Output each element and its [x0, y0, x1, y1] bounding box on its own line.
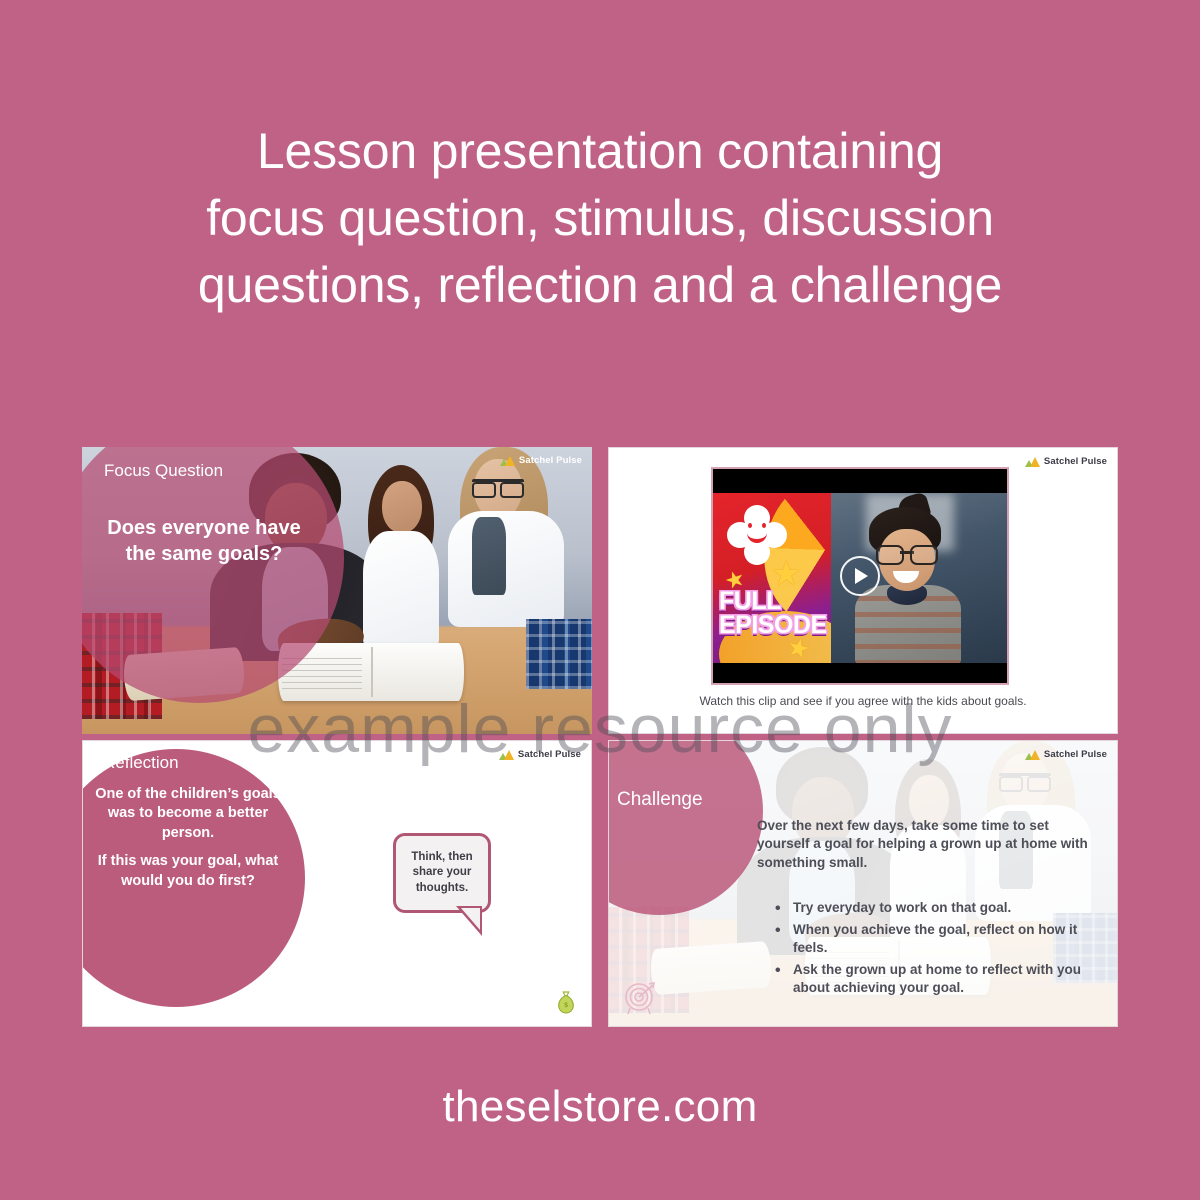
challenge-intro-text: Over the next few days, take some time t…	[757, 817, 1101, 872]
headline-line-2: focus question, stimulus, discussion	[60, 185, 1140, 252]
photo-student-face	[382, 481, 422, 533]
speech-bubble-tail	[456, 906, 482, 936]
page-title: Lesson presentation containing focus que…	[60, 118, 1140, 319]
mountain-icon	[499, 749, 514, 760]
reflection-text: One of the children’s goals was to becom…	[95, 785, 281, 891]
target-icon	[621, 978, 661, 1016]
slide-reflection[interactable]: Reflection One of the children’s goals w…	[82, 740, 592, 1027]
photo-plaid-skirt-right	[526, 619, 592, 689]
focus-question-text: Does everyone have the same goals?	[100, 515, 308, 567]
photo-student2-glasses	[472, 479, 524, 492]
reflection-paragraph-1: One of the children’s goals was to becom…	[95, 785, 281, 843]
mountain-icon	[1025, 456, 1040, 467]
full-episode-line-1: FULL	[719, 590, 827, 614]
slide-focus-question[interactable]: Focus Question Does everyone have the sa…	[82, 447, 592, 734]
slide-label-reflection: Reflection	[103, 753, 179, 773]
video-boy-glasses	[876, 545, 938, 561]
slide-stimulus-video[interactable]: ★ ★ ★ FULL EPISODE Watch this clip and s…	[608, 447, 1118, 734]
slide-challenge[interactable]: Challenge Over the next few days, take s…	[608, 740, 1118, 1027]
slide-label-focus-question: Focus Question	[104, 461, 223, 481]
brand-name: Satchel Pulse	[518, 749, 581, 760]
play-button-icon[interactable]	[840, 556, 880, 596]
satchel-pulse-logo: Satchel Pulse	[1025, 456, 1107, 467]
headline-line-1: Lesson presentation containing	[60, 118, 1140, 185]
reflection-paragraph-2: If this was your goal, what would you do…	[95, 852, 281, 891]
photo-student-blouse	[363, 531, 439, 655]
brand-name: Satchel Pulse	[1044, 749, 1107, 760]
list-item: Ask the grown up at home to reflect with…	[771, 961, 1105, 997]
money-bag-icon: $	[555, 990, 577, 1016]
mountain-icon	[500, 455, 515, 466]
brand-name: Satchel Pulse	[519, 455, 582, 466]
speech-bubble-text: Think, then share your thoughts.	[396, 836, 488, 910]
headline-line-3: questions, reflection and a challenge	[60, 252, 1140, 319]
satchel-pulse-logo: Satchel Pulse	[1025, 749, 1107, 760]
footer-website-url: theselstore.com	[0, 1082, 1200, 1132]
photo-student2-vest	[472, 517, 506, 595]
slide-label-challenge: Challenge	[617, 789, 703, 811]
list-item: When you achieve the goal, reflect on ho…	[771, 921, 1105, 957]
full-episode-badge: FULL EPISODE	[719, 590, 827, 637]
video-thumbnail[interactable]: ★ ★ ★ FULL EPISODE	[711, 467, 1009, 685]
satchel-pulse-logo: Satchel Pulse	[499, 749, 581, 760]
cbc-badge: ★ ★ ★ FULL EPISODE	[713, 493, 831, 663]
photo-student2-blouse	[448, 511, 564, 627]
satchel-pulse-logo: Satchel Pulse	[500, 455, 582, 466]
challenge-bullet-list: Try everyday to work on that goal. When …	[771, 899, 1105, 1001]
speech-bubble: Think, then share your thoughts.	[393, 833, 491, 913]
star-icon: ★	[771, 557, 801, 591]
brand-name: Satchel Pulse	[1044, 456, 1107, 467]
video-caption: Watch this clip and see if you agree wit…	[609, 694, 1117, 708]
svg-text:$: $	[564, 1002, 568, 1009]
list-item: Try everyday to work on that goal.	[771, 899, 1105, 917]
mountain-icon	[1025, 749, 1040, 760]
slide-gallery: Focus Question Does everyone have the sa…	[82, 447, 1118, 1027]
full-episode-line-2: EPISODE	[719, 614, 827, 638]
